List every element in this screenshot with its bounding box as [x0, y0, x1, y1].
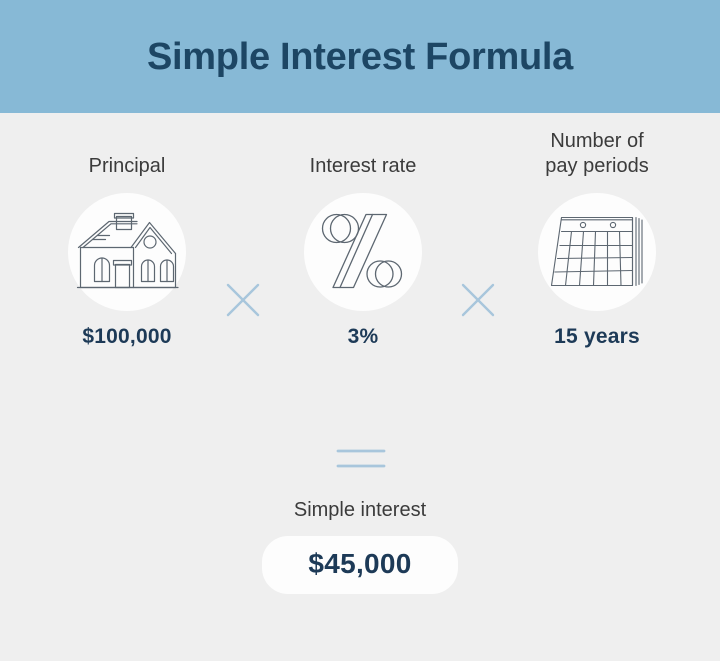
multiply-operator-2 [450, 272, 506, 328]
factor-label-principal: Principal [32, 113, 222, 179]
result-label: Simple interest [0, 498, 720, 522]
calendar-icon [548, 213, 646, 291]
result-block: Simple interest $45,000 [0, 498, 720, 594]
factor-value-pay-periods: 15 years [502, 325, 692, 349]
percent-icon [317, 208, 409, 296]
factor-label-pay-periods: Number of pay periods [502, 113, 692, 179]
factor-pay-periods: Number of pay periods [502, 113, 692, 349]
multiply-icon [450, 272, 506, 328]
icon-circle-pay-periods [538, 193, 656, 311]
factors-row: Principal [0, 113, 720, 433]
factor-interest-rate: Interest rate 3% [268, 113, 458, 349]
house-icon [74, 209, 180, 295]
multiply-icon [215, 272, 271, 328]
page-title: Simple Interest Formula [147, 38, 573, 76]
multiply-operator-1 [215, 272, 271, 328]
equals-operator [335, 443, 387, 471]
equals-icon [335, 443, 387, 471]
factor-principal: Principal [32, 113, 222, 349]
icon-circle-principal [68, 193, 186, 311]
factor-value-principal: $100,000 [32, 325, 222, 349]
infographic-root: Simple Interest Formula Principal [0, 0, 720, 661]
factor-value-interest-rate: 3% [268, 325, 458, 349]
icon-circle-interest-rate [304, 193, 422, 311]
result-value-pill: $45,000 [262, 536, 458, 594]
factor-label-interest-rate: Interest rate [268, 113, 458, 179]
header-band: Simple Interest Formula [0, 0, 720, 113]
